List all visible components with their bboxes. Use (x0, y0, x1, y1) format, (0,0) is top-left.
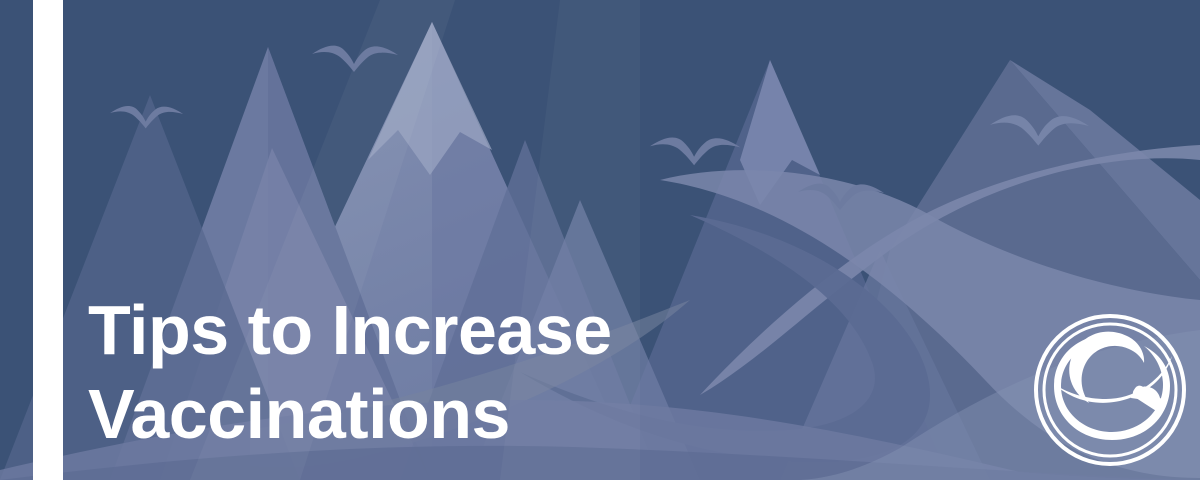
logo-swirl-mark (1054, 332, 1172, 440)
background-illustration (0, 0, 1200, 480)
circular-q-swirl-icon (1032, 306, 1192, 480)
banner-hero: Tips to Increase Vaccinations (0, 0, 1200, 480)
brand-logo[interactable] (1032, 306, 1192, 480)
left-white-stripe (33, 0, 63, 480)
